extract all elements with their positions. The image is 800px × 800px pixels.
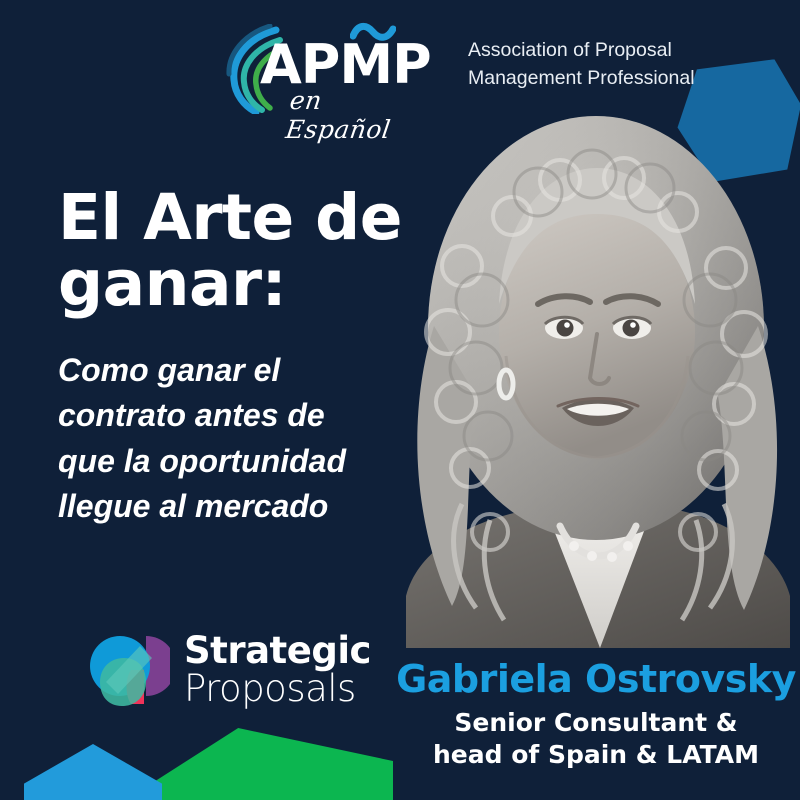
strategic-proposals-logo: Strategic Proposals: [84, 628, 364, 712]
speaker-role-line-1: Senior Consultant &: [392, 707, 800, 739]
association-line-1: Association of Proposal: [468, 36, 768, 64]
speaker-info: Gabriela Ostrovsky Senior Consultant & h…: [392, 658, 800, 771]
strategic-proposals-wordmark: Strategic Proposals: [184, 632, 371, 707]
speaker-role: Senior Consultant & head of Spain & LATA…: [392, 707, 800, 771]
portrait-illustration: [378, 96, 800, 648]
sp-line-2: Proposals: [184, 670, 371, 708]
speaker-name: Gabriela Ostrovsky: [392, 658, 800, 701]
sp-line-1: Strategic: [184, 632, 371, 670]
apmp-wordmark: APMP: [260, 38, 431, 92]
association-line-2: Management Professional: [468, 64, 768, 92]
hexagon-decoration-icon-green: [135, 728, 393, 800]
headline-line-2: ganar:: [58, 251, 458, 317]
apmp-sub-wordmark: en Español: [284, 86, 430, 144]
strategic-proposals-mark-icon: [84, 630, 170, 710]
speaker-role-line-2: head of Spain & LATAM: [392, 739, 800, 771]
association-text: Association of Proposal Management Profe…: [468, 36, 768, 93]
headline-line-1: El Arte de: [58, 185, 458, 251]
hexagon-decoration-icon-blue: [24, 744, 162, 800]
subtitle-line-3: que la oportunidad: [58, 439, 418, 484]
subtitle: Como ganar el contrato antes de que la o…: [58, 348, 418, 530]
apmp-logo: APMP en Español: [226, 14, 426, 124]
subtitle-line-1: Como ganar el: [58, 348, 418, 393]
speaker-portrait-photo: [378, 96, 800, 648]
subtitle-line-4: llegue al mercado: [58, 484, 418, 529]
webinar-promo-poster: APMP en Español Association of Proposal …: [0, 0, 800, 800]
subtitle-line-2: contrato antes de: [58, 393, 418, 438]
page-title: El Arte de ganar:: [58, 185, 458, 317]
